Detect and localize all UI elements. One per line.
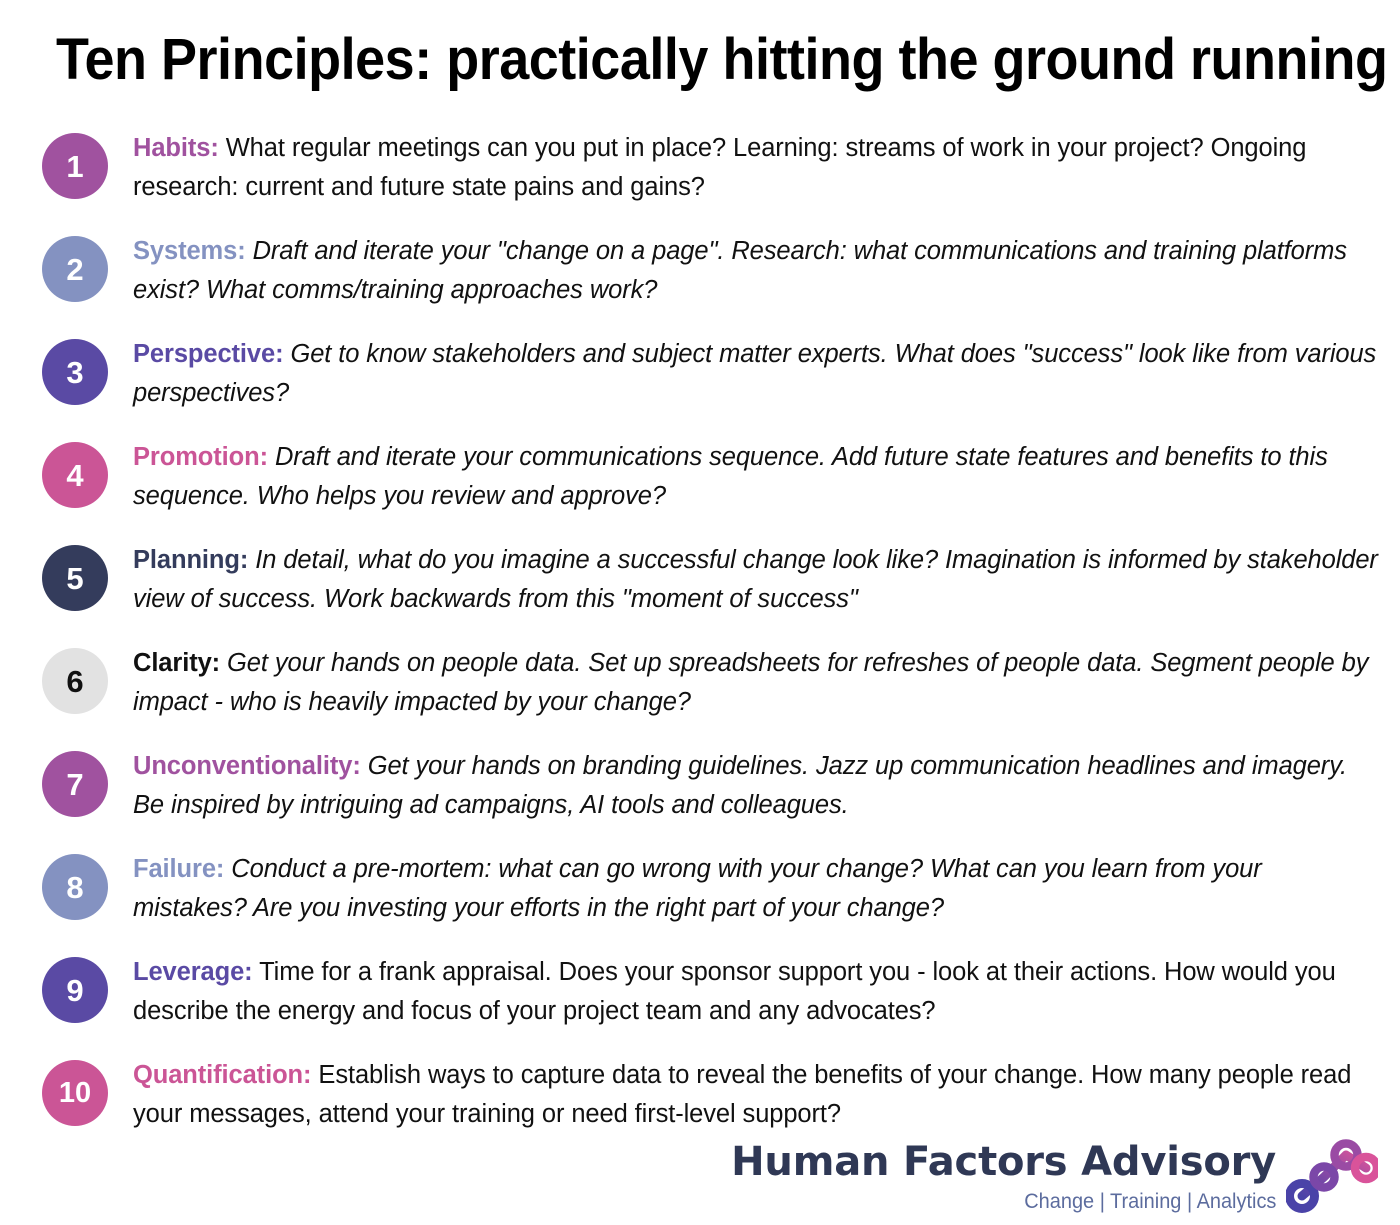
- principle-number-badge: 10: [42, 1060, 108, 1126]
- principle-number-badge: 3: [42, 339, 108, 405]
- principle-text: Promotion: Draft and iterate your commun…: [133, 435, 1382, 516]
- principle-number-badge: 5: [42, 545, 108, 611]
- principle-term: Perspective:: [133, 340, 283, 368]
- principle-body: Get your hands on people data. Set up sp…: [133, 649, 1368, 716]
- principle-text: Clarity: Get your hands on people data. …: [133, 641, 1382, 722]
- principle-text: Failure: Conduct a pre-mortem: what can …: [133, 847, 1382, 928]
- principle-number-badge: 7: [42, 751, 108, 817]
- principle-text: Leverage: Time for a frank appraisal. Do…: [133, 950, 1382, 1031]
- principle-body: Get to know stakeholders and subject mat…: [133, 340, 1376, 407]
- principle-row: 8Failure: Conduct a pre-mortem: what can…: [0, 847, 1400, 950]
- principle-text: Unconventionality: Get your hands on bra…: [133, 744, 1382, 825]
- principle-body: Establish ways to capture data to reveal…: [133, 1061, 1351, 1128]
- principle-term: Planning:: [133, 546, 248, 574]
- principle-number-badge: 2: [42, 236, 108, 302]
- principle-body: Draft and iterate your communications se…: [133, 443, 1328, 510]
- principle-body: Draft and iterate your "change on a page…: [133, 237, 1347, 304]
- principles-list: 1Habits: What regular meetings can you p…: [0, 126, 1400, 1156]
- principle-row: 4Promotion: Draft and iterate your commu…: [0, 435, 1400, 538]
- principle-row: 2Systems: Draft and iterate your "change…: [0, 229, 1400, 332]
- network-nodes-icon: [1286, 1133, 1378, 1213]
- principle-body: Conduct a pre-mortem: what can go wrong …: [133, 855, 1262, 922]
- principle-term: Clarity:: [133, 649, 220, 677]
- principle-term: Failure:: [133, 855, 224, 883]
- logo-text-block: Human Factors Advisory Change | Training…: [731, 1139, 1276, 1217]
- principle-term: Promotion:: [133, 443, 268, 471]
- principle-row: 1Habits: What regular meetings can you p…: [0, 126, 1400, 229]
- principle-body: In detail, what do you imagine a success…: [133, 546, 1378, 613]
- principle-term: Leverage:: [133, 958, 253, 986]
- principle-row: 7Unconventionality: Get your hands on br…: [0, 744, 1400, 847]
- principle-row: 9Leverage: Time for a frank appraisal. D…: [0, 950, 1400, 1053]
- principle-body: What regular meetings can you put in pla…: [133, 134, 1306, 201]
- principle-term: Habits:: [133, 134, 219, 162]
- principle-row: 3Perspective: Get to know stakeholders a…: [0, 332, 1400, 435]
- principle-row: 5Planning: In detail, what do you imagin…: [0, 538, 1400, 641]
- principle-text: Systems: Draft and iterate your "change …: [133, 229, 1382, 310]
- logo-tagline: Change | Training | Analytics: [1024, 1187, 1276, 1217]
- brand-logo: Human Factors Advisory Change | Training…: [731, 1133, 1378, 1217]
- principle-number-badge: 1: [42, 133, 108, 199]
- principle-number-badge: 8: [42, 854, 108, 920]
- principle-term: Unconventionality:: [133, 752, 361, 780]
- principle-text: Quantification: Establish ways to captur…: [133, 1053, 1382, 1134]
- page-title: Ten Principles: practically hitting the …: [56, 26, 1387, 94]
- principle-row: 6Clarity: Get your hands on people data.…: [0, 641, 1400, 744]
- principle-text: Planning: In detail, what do you imagine…: [133, 538, 1382, 619]
- principle-term: Systems:: [133, 237, 246, 265]
- principle-number-badge: 6: [42, 648, 108, 714]
- principle-text: Perspective: Get to know stakeholders an…: [133, 332, 1382, 413]
- logo-company-name: Human Factors Advisory: [731, 1139, 1276, 1185]
- principle-body: Time for a frank appraisal. Does your sp…: [133, 958, 1336, 1025]
- principle-text: Habits: What regular meetings can you pu…: [133, 126, 1382, 207]
- principle-term: Quantification:: [133, 1061, 311, 1089]
- principle-number-badge: 4: [42, 442, 108, 508]
- principle-number-badge: 9: [42, 957, 108, 1023]
